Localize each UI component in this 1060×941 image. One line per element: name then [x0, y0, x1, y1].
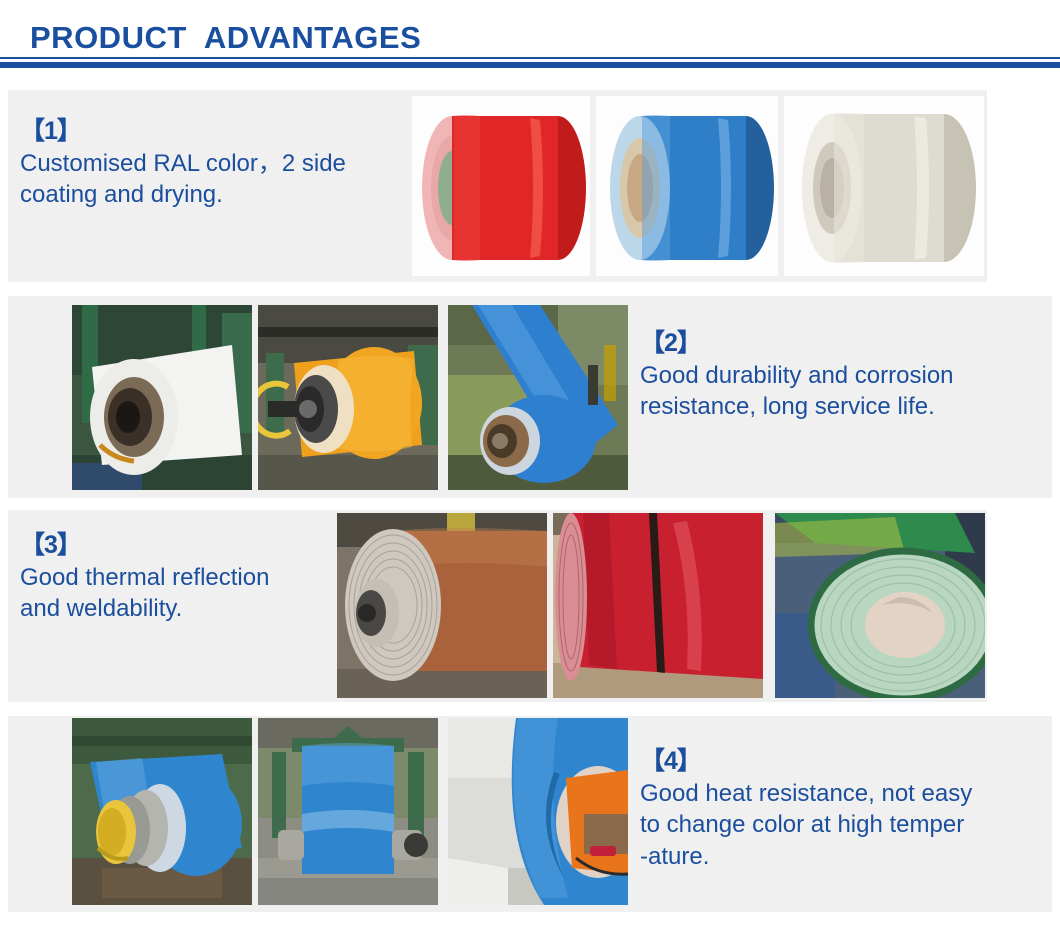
- red-coated-steel-coil: [412, 96, 590, 276]
- advantage-line-2-2: resistance, long service life.: [640, 391, 954, 423]
- blue-coil-front-on-shaft: [258, 718, 438, 905]
- advantage-marker-2: 【2】: [640, 330, 954, 358]
- advantage-line-3-2: and weldability.: [20, 593, 269, 625]
- header-rule-thick: [0, 62, 1060, 68]
- advantage-line-4-3: -ature.: [640, 841, 972, 873]
- orange-coil-on-uncoiler: [258, 305, 438, 490]
- blue-coil-with-yellow-mandrel: [72, 718, 252, 905]
- page-header: PRODUCT ADVANTAGES: [0, 0, 1060, 78]
- blue-coated-steel-coil: [596, 96, 778, 276]
- advantage-line-4-1: Good heat resistance, not easy: [640, 778, 972, 810]
- brown-coated-steel-coil: [337, 513, 547, 698]
- red-coated-steel-coil-closeup: [553, 513, 763, 698]
- advantage-line-3-1: Good thermal reflection: [20, 562, 269, 594]
- advantage-text-1: 【1】 Customised RAL color，2 side coating …: [20, 118, 346, 211]
- advantage-text-4: 【4】 Good heat resistance, not easy to ch…: [640, 748, 972, 873]
- green-coated-steel-coil-closeup: [775, 513, 985, 698]
- advantage-line-1-2: coating and drying.: [20, 179, 346, 211]
- advantage-line-4-2: to change color at high temper: [640, 809, 972, 841]
- advantage-line-2-1: Good durability and corrosion: [640, 360, 954, 392]
- white-coil-on-uncoiler: [72, 305, 252, 490]
- advantage-text-2: 【2】 Good durability and corrosion resist…: [640, 330, 954, 423]
- advantage-marker-1: 【1】: [20, 118, 346, 146]
- advantage-text-3: 【3】 Good thermal reflection and weldabil…: [20, 532, 269, 625]
- cream-coated-steel-coil: [784, 96, 984, 276]
- advantage-marker-4: 【4】: [640, 748, 972, 776]
- page-title: PRODUCT ADVANTAGES: [30, 20, 421, 56]
- blue-coil-on-uncoiler: [448, 305, 628, 490]
- header-rule-thin: [0, 57, 1060, 59]
- advantage-line-1-1: Customised RAL color，2 side: [20, 148, 346, 180]
- advantage-marker-3: 【3】: [20, 532, 269, 560]
- blue-coil-closeup-orange-frame: [448, 718, 628, 905]
